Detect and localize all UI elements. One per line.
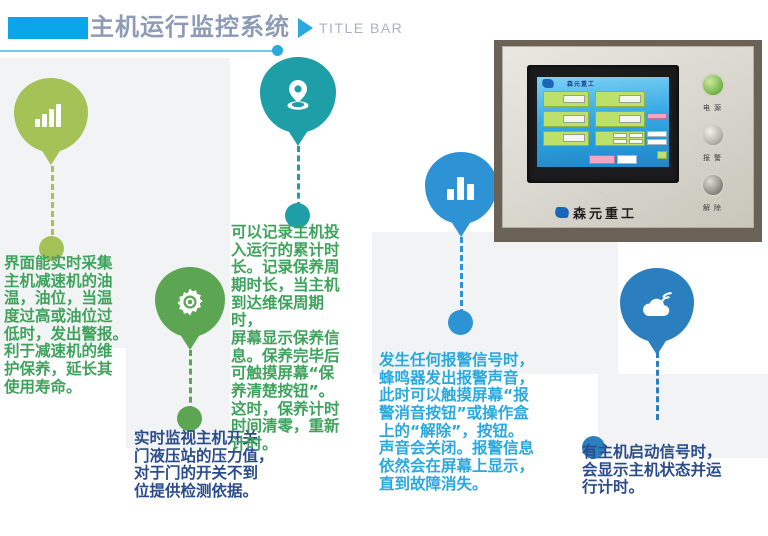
screen-field: [619, 95, 641, 103]
connector-node-4: [460, 237, 463, 315]
screen-footer-button: [617, 155, 637, 164]
pin-node-2[interactable]: [155, 267, 225, 337]
hmi-screen: 森元重工: [537, 77, 669, 167]
title-color-swatch: [8, 17, 88, 39]
knob-label-power: 电 源: [703, 103, 722, 113]
screen-field: [613, 133, 627, 138]
indicator-lamp-power[interactable]: [701, 73, 725, 97]
screen-button: [647, 131, 667, 137]
bar-chart-icon: [425, 152, 497, 224]
screen-button: [647, 139, 667, 145]
screen-title: 森元重工: [567, 79, 595, 88]
connector-node-5: [656, 352, 659, 420]
knob-label-alarm: 报 警: [703, 153, 722, 163]
blurb-node-4: 发生任何报警信号时， 蜂鸣器发出报警声音， 此时可以触摸屏幕“报 警消音按钮”或…: [379, 352, 573, 493]
background-band-mid: [126, 58, 230, 448]
hmi-screen-bezel: 森元重工: [527, 65, 679, 183]
infographic-canvas: 主机运行监控系统 TITLE BAR 界面能实时采集 主机减速机的油 温，油位，…: [0, 0, 768, 536]
panel-plus-mark: +: [599, 189, 605, 199]
blurb-node-1: 界面能实时采集 主机减速机的油 温，油位，当温 度过高或油位过 低时，发出警报。…: [4, 255, 128, 396]
screen-field: [563, 95, 585, 103]
gear-icon: [155, 267, 225, 337]
title-underline: [0, 50, 278, 52]
blurb-node-3: 可以记录主机投 入运行的累计时 长。记录保养周 期时长，当主机 到达维保周期时，…: [231, 224, 343, 454]
hmi-control-panel-photo: 森元重工: [494, 40, 762, 242]
screen-field: [563, 134, 585, 142]
screen-footer-bar: [589, 155, 615, 164]
page-title: 主机运行监控系统: [90, 16, 290, 40]
node-dot-4: [448, 310, 473, 335]
connector-node-2: [189, 350, 192, 412]
title-underline-endpoint: [272, 45, 283, 56]
location-person-icon: [260, 57, 336, 133]
brand-logo-icon: [554, 207, 570, 218]
pin-node-5[interactable]: [620, 268, 694, 342]
cloud-wifi-icon: [620, 268, 694, 342]
screen-field: [619, 115, 641, 123]
panel-brand: 森元重工: [555, 203, 637, 222]
node-dot-2: [177, 406, 202, 431]
screen-field: [629, 133, 643, 138]
title-subtitle: TITLE BAR: [319, 20, 403, 36]
screen-footer-icon: [657, 151, 667, 159]
pin-node-1[interactable]: [14, 78, 88, 152]
key-switch-alarm[interactable]: [701, 123, 725, 147]
screen-field: [629, 139, 643, 144]
pin-node-4[interactable]: [425, 152, 497, 224]
connector-node-1: [51, 166, 54, 244]
screen-alarm-bar: [647, 113, 667, 119]
pin-node-3[interactable]: [260, 57, 336, 133]
brand-text: 森元重工: [573, 203, 637, 222]
push-button-release[interactable]: [701, 173, 725, 197]
signal-bars-icon: [14, 78, 88, 152]
screen-field: [563, 115, 585, 123]
knob-label-release: 解 除: [703, 203, 722, 213]
connector-node-3: [297, 146, 300, 208]
play-triangle-icon: [298, 18, 313, 38]
title-bar: 主机运行监控系统 TITLE BAR: [0, 8, 768, 48]
screen-field: [613, 139, 627, 144]
panel-face: 森元重工: [502, 46, 754, 228]
screen-logo-icon: [541, 79, 555, 88]
blurb-node-5: 有主机启动信号时， 会显示主机状态并运 行计时。: [582, 444, 768, 497]
